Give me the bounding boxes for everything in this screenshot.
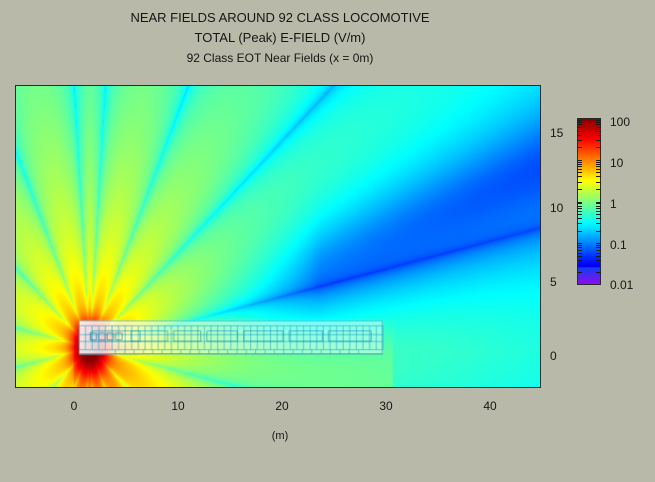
colorbar-minor-tick bbox=[596, 253, 601, 254]
x-tick-label-4: 40 bbox=[483, 399, 496, 413]
colorbar-minor-tick bbox=[577, 182, 582, 183]
colorbar-minor-tick bbox=[577, 162, 582, 163]
colorbar-minor-tick bbox=[577, 131, 582, 132]
colorbar-minor-tick bbox=[577, 211, 582, 212]
colorbar-minor-tick bbox=[596, 189, 601, 190]
colorbar-minor-tick bbox=[577, 169, 582, 170]
colorbar-label-0: 100 bbox=[610, 115, 630, 129]
colorbar-minor-tick bbox=[577, 256, 582, 257]
colorbar-minor-tick bbox=[596, 231, 601, 232]
colorbar-minor-tick bbox=[577, 203, 582, 204]
colorbar-minor-tick bbox=[596, 272, 601, 273]
chart-title-sub: TOTAL (Peak) E-FIELD (V/m) bbox=[0, 28, 560, 48]
colorbar-minor-tick bbox=[577, 140, 582, 141]
colorbar-minor-tick bbox=[596, 127, 601, 128]
colorbar-label-4: 0.01 bbox=[610, 278, 633, 292]
x-tick-label-2: 20 bbox=[275, 399, 288, 413]
colorbar-minor-tick bbox=[577, 223, 582, 224]
colorbar-minor-tick bbox=[577, 208, 582, 209]
colorbar-minor-tick bbox=[577, 245, 582, 246]
colorbar-minor-tick bbox=[596, 124, 601, 125]
locomotive-outline-overlay bbox=[16, 86, 540, 387]
colorbar-minor-tick bbox=[596, 250, 601, 251]
colorbar-minor-tick bbox=[596, 245, 601, 246]
colorbar-minor-tick bbox=[577, 172, 582, 173]
y-tick-label-3: 0 bbox=[550, 349, 557, 363]
x-tick-label-0: 0 bbox=[71, 399, 78, 413]
colorbar-minor-tick bbox=[577, 253, 582, 254]
colorbar-label-3: 0.1 bbox=[610, 238, 627, 252]
colorbar-minor-tick bbox=[577, 206, 582, 207]
colorbar-minor-tick bbox=[596, 122, 601, 123]
colorbar-minor-tick bbox=[577, 247, 582, 248]
colorbar-minor-tick bbox=[596, 140, 601, 141]
colorbar bbox=[577, 118, 601, 285]
figure-window: NEAR FIELDS AROUND 92 CLASS LOCOMOTIVE T… bbox=[0, 0, 655, 482]
colorbar-minor-tick bbox=[596, 160, 601, 161]
colorbar-minor-tick bbox=[577, 250, 582, 251]
colorbar-minor-tick bbox=[596, 211, 601, 212]
colorbar-minor-tick bbox=[596, 260, 601, 261]
x-tick-label-3: 30 bbox=[379, 399, 392, 413]
colorbar-minor-tick bbox=[596, 135, 601, 136]
colorbar-minor-tick bbox=[577, 124, 582, 125]
colorbar-minor-tick bbox=[596, 169, 601, 170]
colorbar-minor-tick bbox=[577, 135, 582, 136]
title-block: NEAR FIELDS AROUND 92 CLASS LOCOMOTIVE T… bbox=[0, 8, 560, 68]
colorbar-minor-tick bbox=[577, 147, 582, 148]
colorbar-minor-tick bbox=[577, 272, 582, 273]
colorbar-minor-tick bbox=[596, 218, 601, 219]
colorbar-minor-tick bbox=[577, 176, 582, 177]
colorbar-minor-tick bbox=[596, 120, 601, 121]
colorbar-minor-tick bbox=[596, 208, 601, 209]
colorbar-minor-tick bbox=[596, 265, 601, 266]
colorbar-minor-tick bbox=[596, 131, 601, 132]
colorbar-minor-tick bbox=[596, 214, 601, 215]
colorbar-minor-tick bbox=[596, 164, 601, 165]
chart-title-caption: 92 Class EOT Near Fields (x = 0m) bbox=[0, 48, 560, 68]
colorbar-minor-tick bbox=[577, 120, 582, 121]
colorbar-minor-tick bbox=[577, 127, 582, 128]
colorbar-minor-tick bbox=[596, 206, 601, 207]
colorbar-minor-tick bbox=[577, 189, 582, 190]
colorbar-minor-tick bbox=[577, 260, 582, 261]
colorbar-minor-tick bbox=[577, 265, 582, 266]
y-tick-label-0: 15 bbox=[550, 126, 563, 140]
colorbar-minor-tick bbox=[596, 166, 601, 167]
y-tick-label-2: 5 bbox=[550, 275, 557, 289]
colorbar-minor-tick bbox=[577, 218, 582, 219]
colorbar-minor-tick bbox=[596, 182, 601, 183]
colorbar-label-2: 1 bbox=[610, 197, 617, 211]
colorbar-minor-tick bbox=[577, 122, 582, 123]
plot-area bbox=[15, 85, 541, 388]
colorbar-minor-tick bbox=[596, 162, 601, 163]
colorbar-minor-tick bbox=[577, 214, 582, 215]
colorbar-minor-tick bbox=[596, 247, 601, 248]
colorbar-minor-tick bbox=[596, 202, 601, 203]
colorbar-minor-tick bbox=[596, 176, 601, 177]
colorbar-minor-tick bbox=[577, 160, 582, 161]
colorbar-minor-tick bbox=[596, 172, 601, 173]
colorbar-label-1: 10 bbox=[610, 156, 623, 170]
colorbar-minor-tick bbox=[577, 202, 582, 203]
colorbar-minor-tick bbox=[596, 223, 601, 224]
colorbar-minor-tick bbox=[596, 147, 601, 148]
colorbar-minor-tick bbox=[596, 203, 601, 204]
x-axis-label: (m) bbox=[0, 430, 560, 442]
colorbar-minor-tick bbox=[577, 243, 582, 244]
colorbar-minor-tick bbox=[596, 256, 601, 257]
colorbar-minor-tick bbox=[596, 243, 601, 244]
colorbar-minor-tick bbox=[577, 231, 582, 232]
colorbar-minor-tick bbox=[577, 166, 582, 167]
y-tick-label-1: 10 bbox=[550, 201, 563, 215]
x-tick-label-1: 10 bbox=[171, 399, 184, 413]
chart-title-main: NEAR FIELDS AROUND 92 CLASS LOCOMOTIVE bbox=[0, 8, 560, 28]
colorbar-minor-tick bbox=[577, 164, 582, 165]
